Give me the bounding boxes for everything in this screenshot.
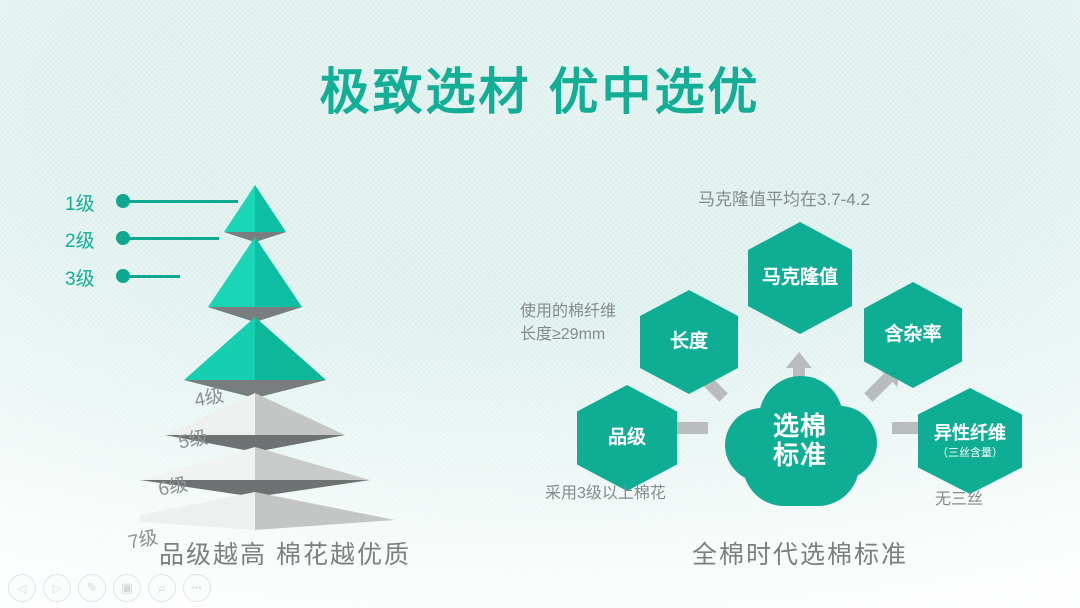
more-icon[interactable]: ••• xyxy=(183,574,211,602)
hex-node-foreign-fiber-sub: （三丝含量） xyxy=(937,447,1003,460)
annotation-foreign-fiber: 无三丝 xyxy=(935,488,983,511)
hex-node-grade[interactable]: 品级 xyxy=(577,385,677,491)
hex-node-micronaire[interactable]: 马克隆值 xyxy=(748,222,852,334)
search-icon[interactable]: ⌕ xyxy=(148,574,176,602)
hex-diagram-caption: 全棉时代选棉标准 xyxy=(520,535,1080,571)
pyramid-tier-label-3: 3级 xyxy=(65,264,95,291)
hex-node-trash-label: 含杂率 xyxy=(884,324,941,346)
center-cloud-label: 选棉 标准 xyxy=(773,412,827,470)
pyramid-tier-label-1: 1级 xyxy=(65,189,95,216)
hex-diagram-panel: 马克隆值平均在3.7-4.2 马克隆值 长度 含杂率 xyxy=(520,170,1080,570)
hex-node-micronaire-label: 马克隆值 xyxy=(762,267,838,289)
pyramid-caption: 品级越高 棉花越优质 xyxy=(60,535,510,571)
pyramid-tier-label-5: 5级 xyxy=(176,422,210,454)
slide-canvas: 极致选材 优中选优 4 xyxy=(0,0,1080,608)
pyramid-tier-label-2: 2级 xyxy=(65,226,95,253)
hex-node-foreign-fiber-label: 异性纤维 xyxy=(934,423,1006,444)
bottom-toolbar: ◁ ▷ ✎ ▣ ⌕ ••• xyxy=(8,574,211,602)
annotation-micronaire: 马克隆值平均在3.7-4.2 xyxy=(698,188,870,213)
pyramid-panel: 4级 5级 6级 7级 1级 2级 3级 品级越高 棉花越优质 xyxy=(60,170,510,570)
center-cloud-line2: 标准 xyxy=(773,441,827,470)
pyramid-leader-line-1 xyxy=(128,200,238,203)
annotation-length: 使用的棉纤维 长度≥29mm xyxy=(520,300,616,346)
next-icon[interactable]: ▷ xyxy=(43,574,71,602)
center-cloud-line1: 选棉 xyxy=(773,412,827,441)
pyramid-graphic xyxy=(140,180,470,530)
hex-node-foreign-fiber[interactable]: 异性纤维 （三丝含量） xyxy=(918,388,1022,494)
previous-icon[interactable]: ◁ xyxy=(8,574,36,602)
center-cloud-node[interactable]: 选棉 标准 xyxy=(725,376,875,506)
pyramid-tier-label-6: 6级 xyxy=(156,469,190,501)
pyramid-tier-label-4: 4级 xyxy=(192,380,226,412)
pyramid-leader-line-3 xyxy=(128,275,180,278)
pen-icon[interactable]: ✎ xyxy=(78,574,106,602)
annotation-grade: 采用3级以上棉花 xyxy=(545,482,666,505)
page-title: 极致选材 优中选优 xyxy=(0,52,1080,124)
pyramid-leader-line-2 xyxy=(128,237,219,240)
hex-node-grade-label: 品级 xyxy=(608,427,646,449)
layout-icon[interactable]: ▣ xyxy=(113,574,141,602)
hex-node-length-label: 长度 xyxy=(670,331,708,353)
